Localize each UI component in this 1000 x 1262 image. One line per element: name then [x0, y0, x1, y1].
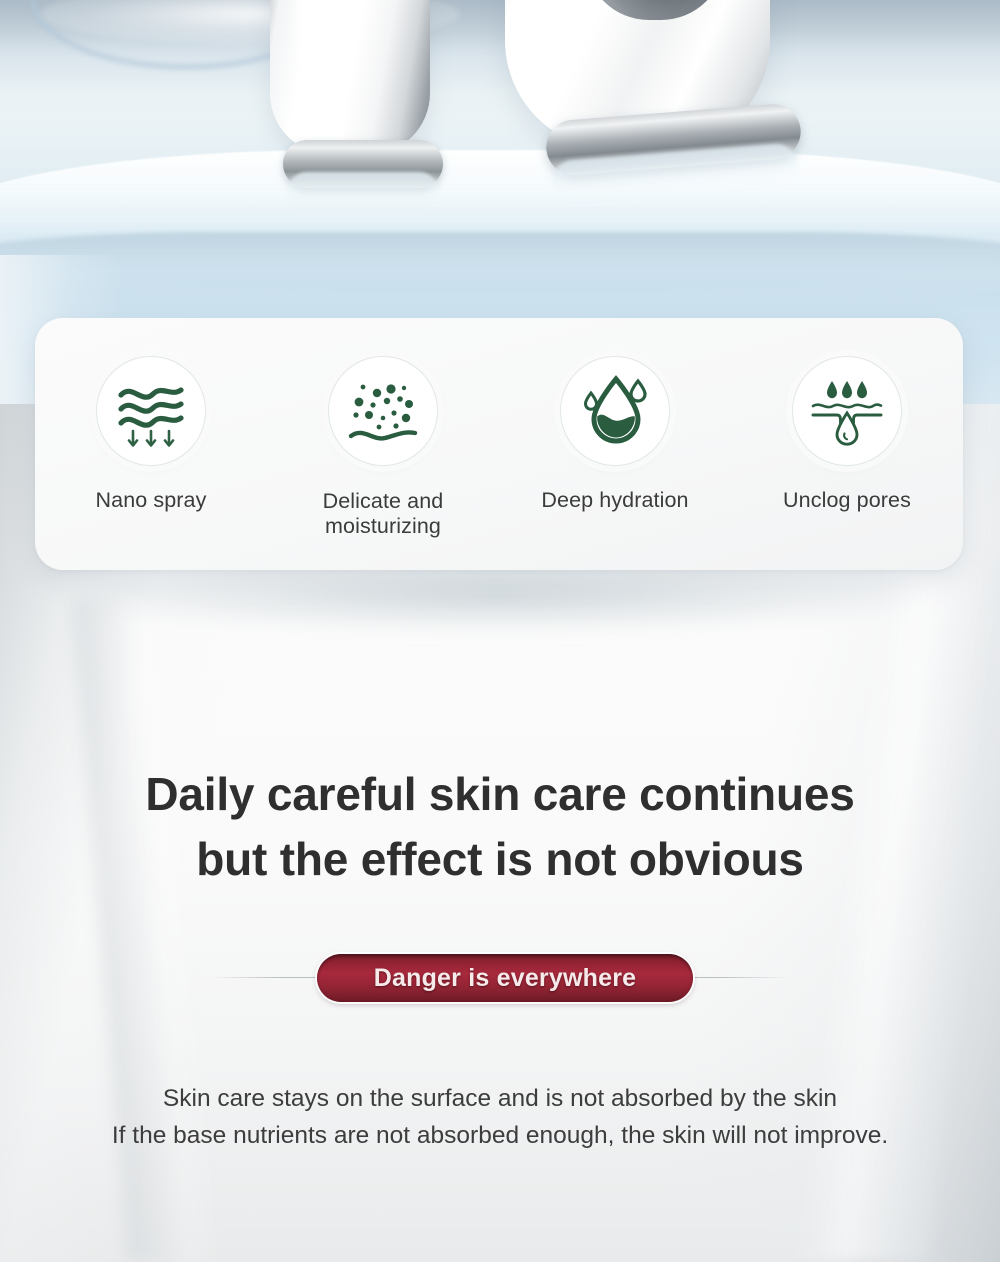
feature-card-shadow [78, 560, 918, 630]
pore-absorption-icon [793, 357, 901, 465]
product-landing-page: Nano spray [0, 0, 1000, 1262]
feature-label-line-1: Delicate and [323, 489, 444, 513]
feature-item-deep-hydration[interactable]: Deep hydration [508, 318, 723, 570]
danger-badge: Danger is everywhere [317, 954, 693, 1002]
body-copy-line-1: Skin care stays on the surface and is no… [0, 1080, 1000, 1117]
feature-list: Nano spray [35, 318, 963, 570]
feature-item-unclog-pores[interactable]: Unclog pores [740, 318, 955, 570]
wavy-lines-down-arrows-icon [97, 357, 205, 465]
body-copy-line-2: If the base nutrients are not absorbed e… [0, 1117, 1000, 1154]
feature-label-deep-hydration: Deep hydration [500, 488, 730, 513]
headline-line-1: Daily careful skin care continues [145, 768, 854, 820]
page-headline: Daily careful skin care continues but th… [0, 762, 1000, 892]
feature-item-delicate-moisturizing[interactable]: Delicate and moisturizing [276, 318, 491, 570]
feature-label-nano-spray: Nano spray [36, 488, 266, 513]
nano-spray-device-highlight [296, 0, 322, 130]
feature-label-delicate-moisturizing: Delicate and moisturizing [268, 489, 498, 539]
feature-label-line-2: moisturizing [325, 514, 441, 538]
feature-card: Nano spray [35, 318, 963, 570]
feature-label-unclog-pores: Unclog pores [732, 488, 962, 513]
nano-spray-device-reflection [287, 172, 439, 212]
headline-line-2: but the effect is not obvious [0, 827, 1000, 892]
particles-over-wave-icon [329, 357, 437, 465]
body-copy: Skin care stays on the surface and is no… [0, 1080, 1000, 1154]
water-droplet-icon [561, 357, 669, 465]
nano-spray-device [270, 0, 430, 155]
danger-badge-label: Danger is everywhere [374, 964, 636, 993]
feature-item-nano-spray[interactable]: Nano spray [44, 318, 259, 570]
